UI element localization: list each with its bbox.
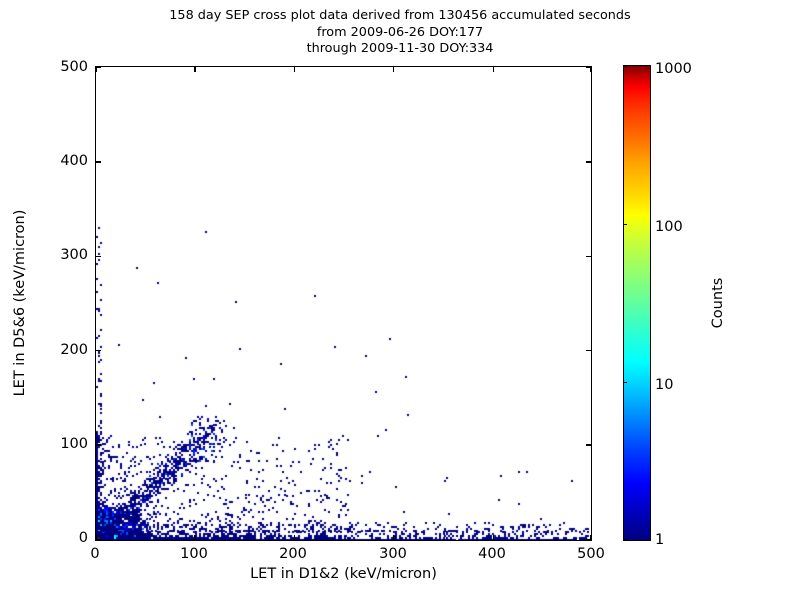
- ytick-label-300: 300: [60, 247, 88, 263]
- colorbar-tick-10: [623, 382, 627, 383]
- ytick-label-500: 500: [60, 59, 88, 75]
- scatter-heatmap-data: [96, 67, 591, 540]
- xtick-label-200: 200: [279, 546, 307, 562]
- ytick-mark-500: [96, 67, 101, 68]
- colorbar-title: Counts: [710, 278, 726, 329]
- ytick-mark-right-400: [586, 161, 591, 162]
- xtick-mark-top-300: [393, 67, 394, 72]
- x-axis-label: LET in D1&2 (keV/micron): [95, 566, 592, 582]
- ytick-mark-right-200: [586, 350, 591, 351]
- ytick-mark-right-300: [586, 256, 591, 257]
- xtick-label-400: 400: [478, 546, 506, 562]
- xtick-mark-top-100: [194, 67, 195, 72]
- xtick-mark-400: [493, 535, 494, 540]
- plot-title-line-2: from 2009-06-26 DOY:177: [0, 25, 800, 42]
- y-axis-label: LET in D5&6 (keV/micron): [12, 210, 28, 397]
- colorbar-tick-1: [623, 539, 627, 540]
- xtick-mark-300: [393, 535, 394, 540]
- colorbar-label-100: 100: [655, 219, 683, 235]
- xtick-label-500: 500: [577, 546, 605, 562]
- xtick-label-100: 100: [180, 546, 208, 562]
- ytick-mark-200: [96, 350, 101, 351]
- xtick-label-0: 0: [90, 546, 99, 562]
- ytick-mark-300: [96, 256, 101, 257]
- ytick-label-100: 100: [60, 436, 88, 452]
- colorbar-tick-100: [623, 224, 627, 225]
- colorbar-gradient: [623, 65, 651, 541]
- plot-title-line-1: 158 day SEP cross plot data derived from…: [0, 8, 800, 25]
- ytick-mark-100: [96, 444, 101, 445]
- plot-axes: [95, 66, 592, 541]
- xtick-label-300: 300: [379, 546, 407, 562]
- xtick-mark-200: [294, 535, 295, 540]
- plot-title-line-3: through 2009-11-30 DOY:334: [0, 41, 800, 58]
- xtick-mark-top-400: [493, 67, 494, 72]
- xtick-mark-100: [194, 535, 195, 540]
- colorbar-tick-1000: [623, 66, 627, 67]
- xtick-mark-top-200: [294, 67, 295, 72]
- colorbar-label-1: 1: [655, 532, 664, 548]
- ytick-mark-right-100: [586, 444, 591, 445]
- colorbar: [623, 65, 651, 541]
- ytick-label-0: 0: [79, 530, 88, 546]
- ytick-mark-0: [96, 539, 101, 540]
- ytick-mark-right-500: [586, 67, 591, 68]
- colorbar-label-1000: 1000: [655, 61, 692, 77]
- ytick-label-200: 200: [60, 342, 88, 358]
- plot-title: 158 day SEP cross plot data derived from…: [0, 8, 800, 58]
- ytick-mark-right-0: [586, 539, 591, 540]
- ytick-mark-400: [96, 161, 101, 162]
- colorbar-label-10: 10: [655, 377, 673, 393]
- ytick-label-400: 400: [60, 153, 88, 169]
- figure-canvas: 158 day SEP cross plot data derived from…: [0, 0, 800, 600]
